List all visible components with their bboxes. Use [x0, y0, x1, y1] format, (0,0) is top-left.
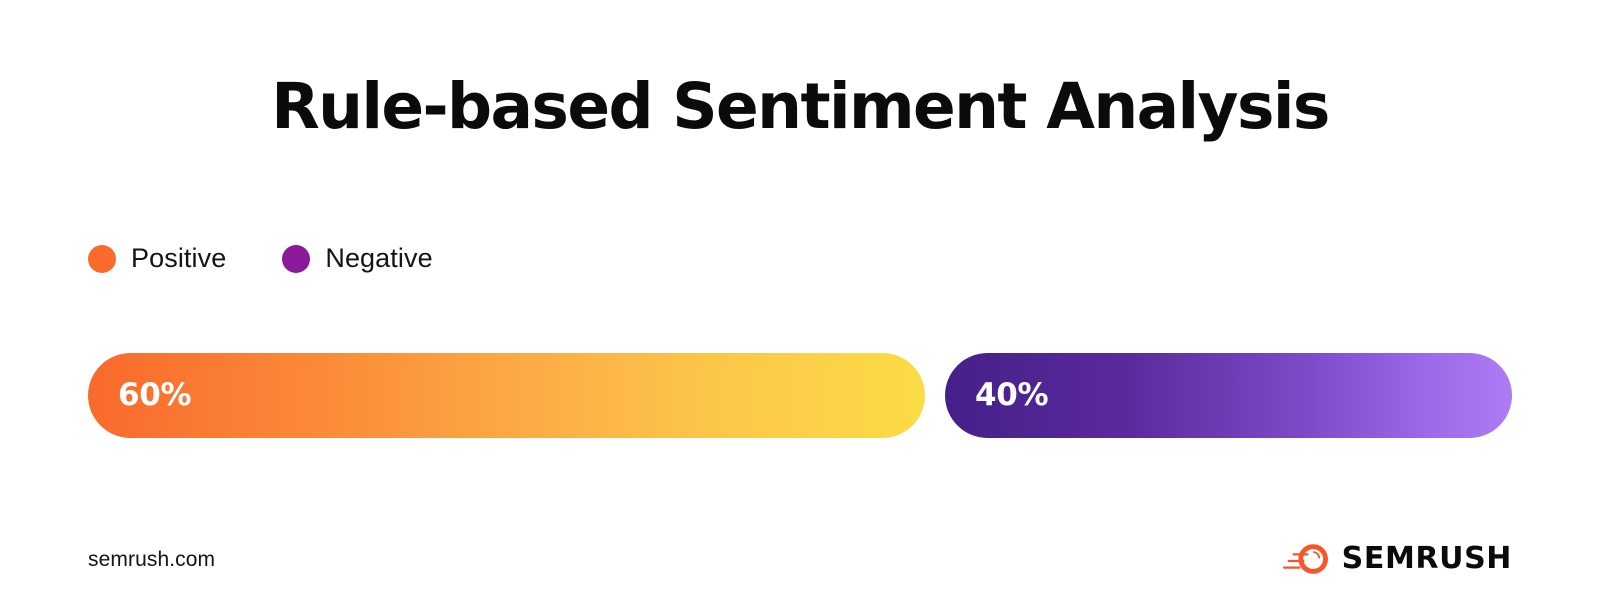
footer-site-url: semrush.com — [88, 548, 215, 572]
legend-dot-negative-icon — [282, 245, 310, 273]
infographic-canvas: Rule-based Sentiment Analysis Positive N… — [0, 0, 1600, 616]
legend-dot-positive-icon — [88, 245, 116, 273]
bar-negative: 40% — [945, 353, 1512, 438]
bar-positive: 60% — [88, 353, 925, 438]
legend-item-negative: Negative — [282, 243, 432, 274]
bar-negative-value-label: 40% — [975, 380, 1048, 411]
legend-item-positive: Positive — [88, 243, 226, 274]
page-title: Rule-based Sentiment Analysis — [0, 74, 1600, 140]
bar-positive-value-label: 60% — [118, 380, 191, 411]
stacked-bar-chart: 60% 40% — [88, 353, 1512, 438]
semrush-brand-lockup: SEMRUSH — [1283, 543, 1512, 575]
semrush-comet-logo-icon — [1283, 543, 1329, 575]
legend-label-negative: Negative — [325, 243, 432, 274]
legend-label-positive: Positive — [131, 243, 226, 274]
chart-legend: Positive Negative — [88, 243, 433, 274]
semrush-wordmark: SEMRUSH — [1342, 544, 1512, 574]
